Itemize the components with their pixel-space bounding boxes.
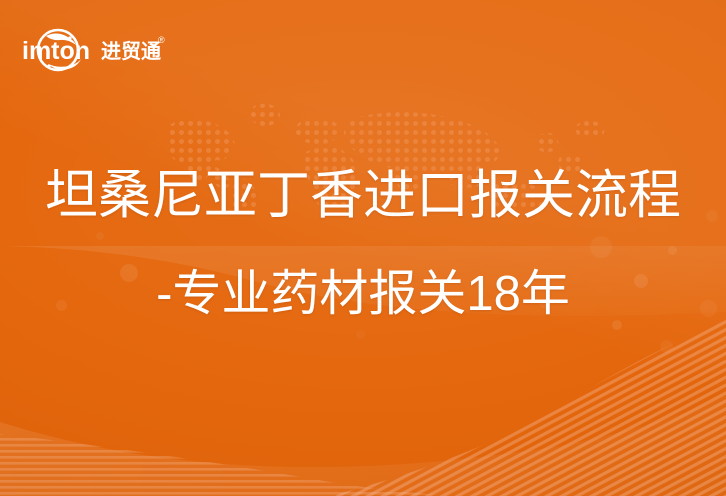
svg-text:进贸通: 进贸通 [101,39,161,63]
dotted-world-map [150,92,620,210]
bottom-wave-graphic [0,246,726,496]
svg-text:imton: imton [22,37,90,65]
imton-logo[interactable]: imton 进贸通 ® [18,22,168,78]
promo-banner: imton 进贸通 ® 坦桑尼亚丁香进口报关流程 -专业药材报关18年 [0,0,726,496]
svg-text:®: ® [158,35,165,45]
